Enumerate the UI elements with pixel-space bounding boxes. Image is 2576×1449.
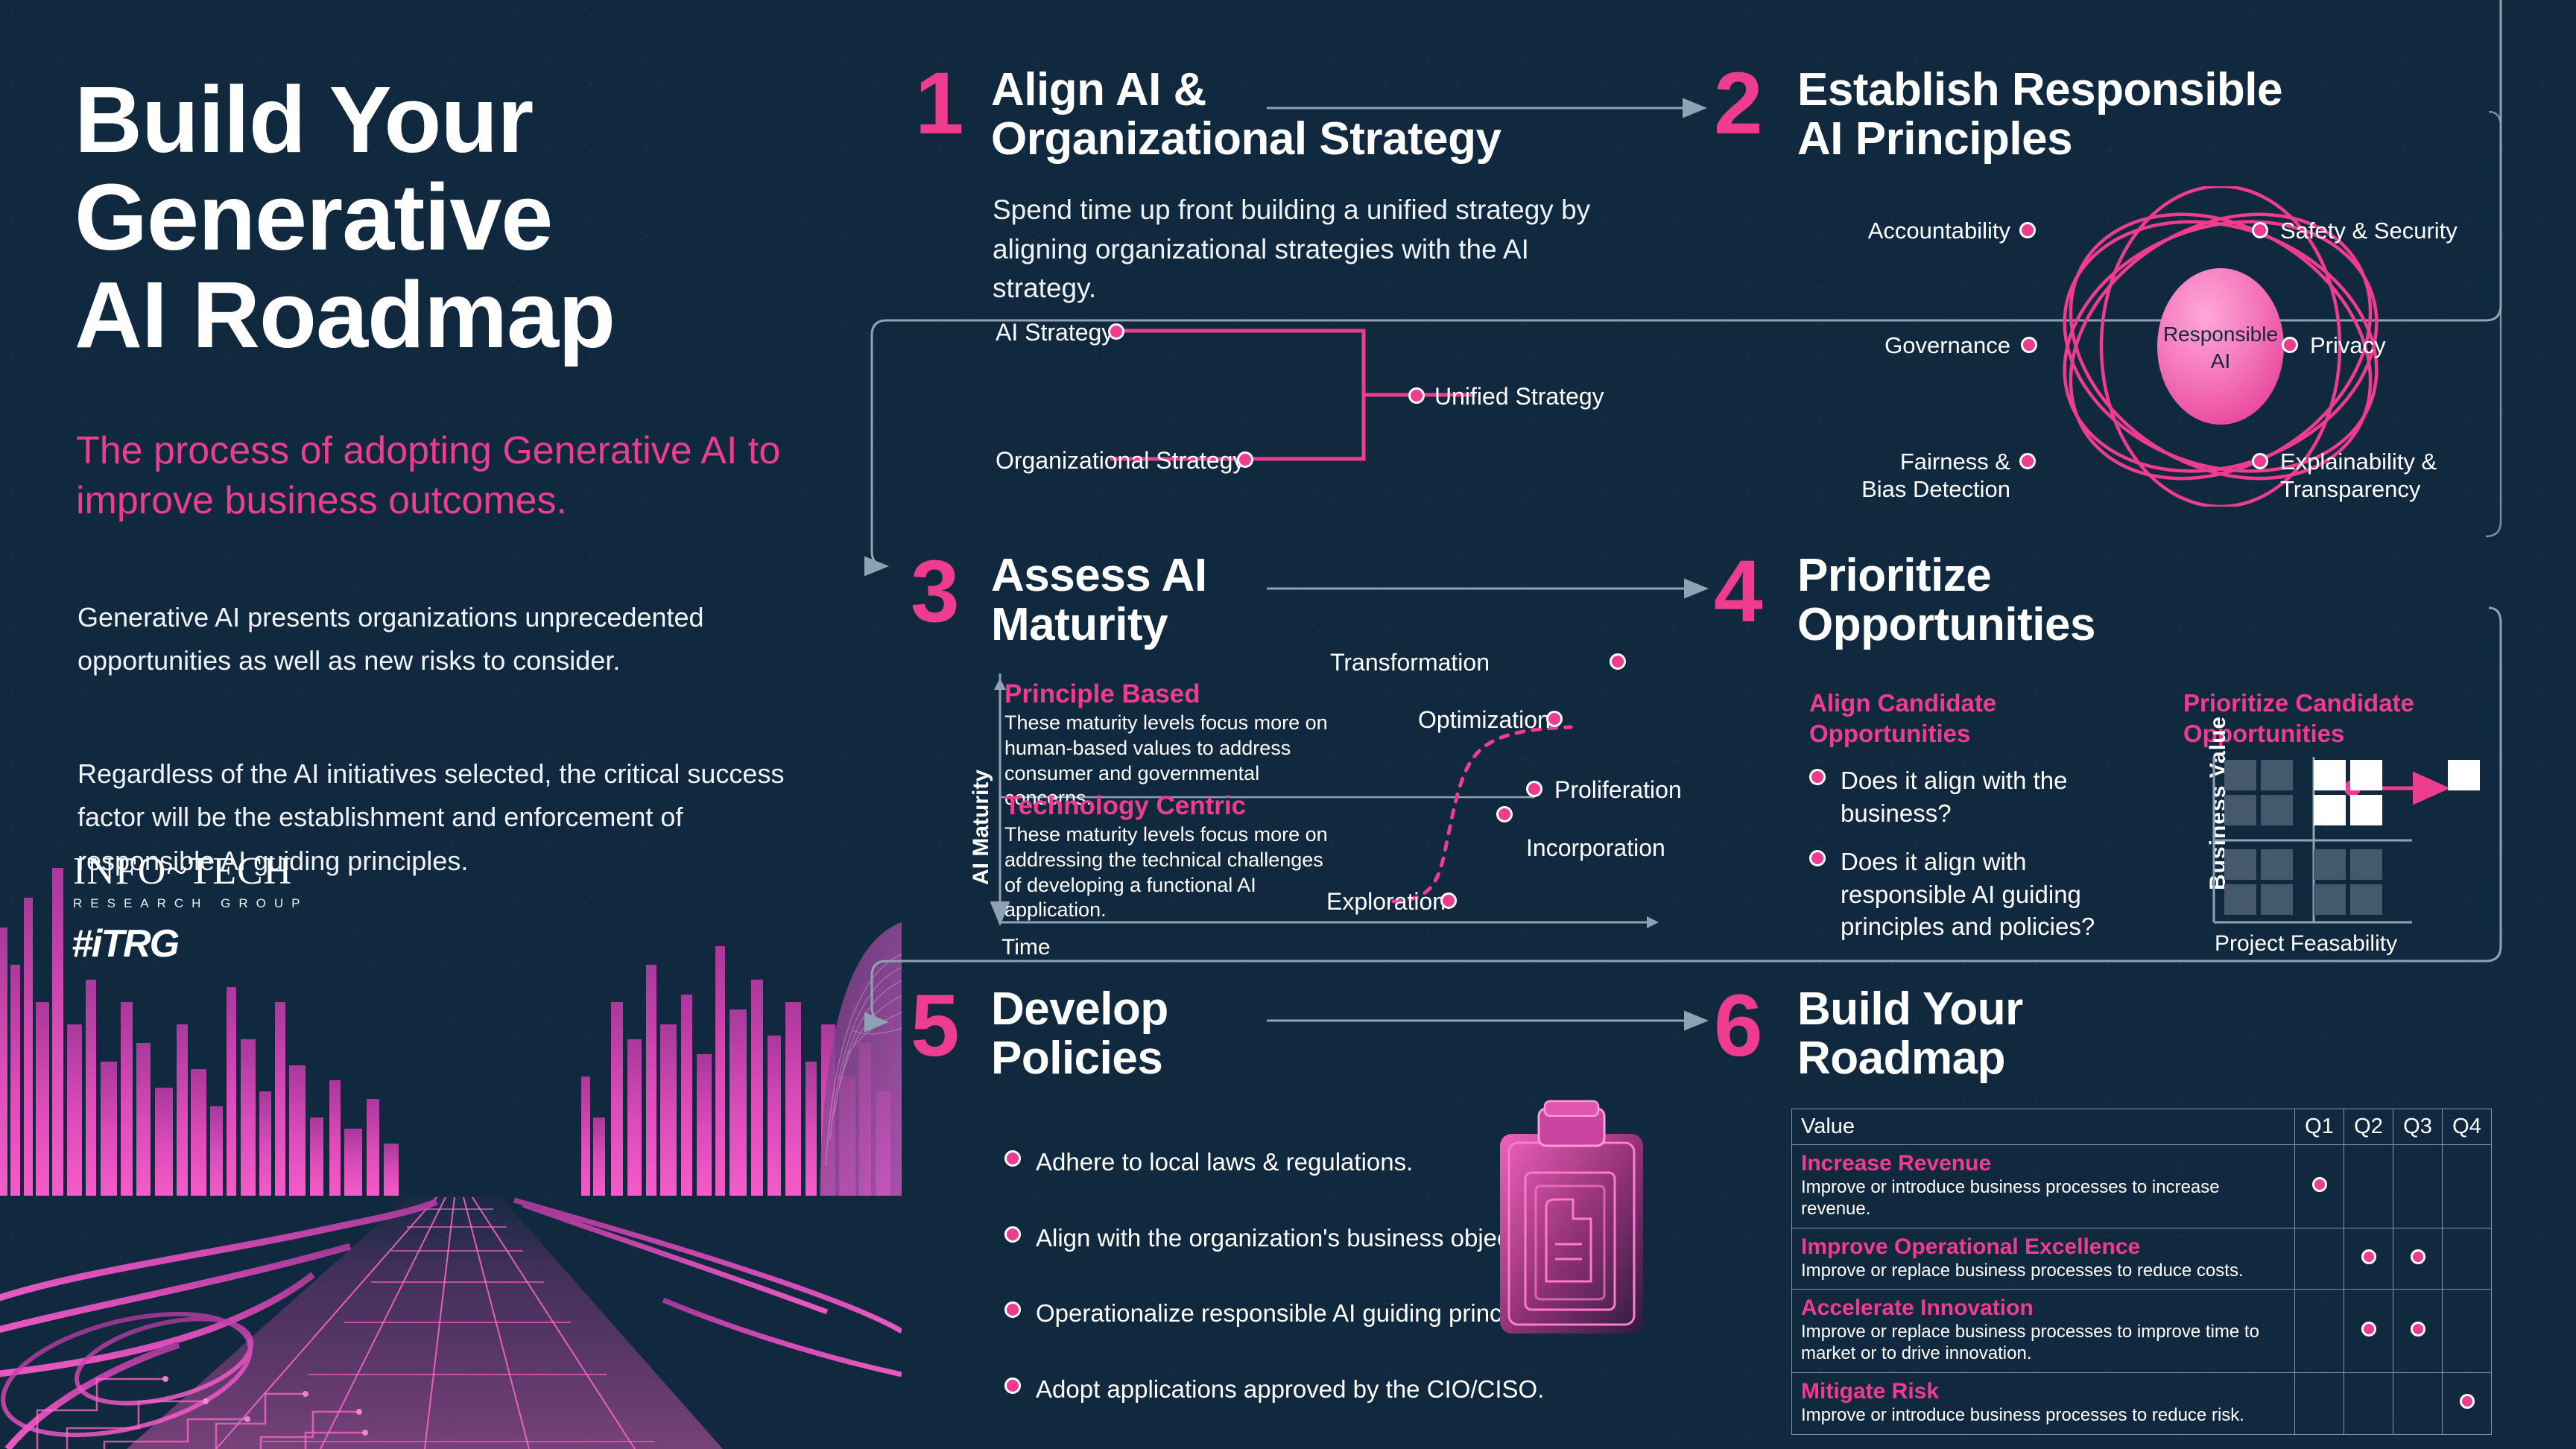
column-header-q3: Q3 [2393, 1109, 2443, 1145]
row-q3-cell [2393, 1290, 2443, 1373]
step-1-title-line-2: Organizational Strategy [991, 115, 1662, 164]
step-5-bullets: Adhere to local laws & regulations. Alig… [1004, 1146, 1571, 1405]
atom-label-accountability: Accountability [1855, 218, 2010, 245]
node-label-ai-strategy: AI Strategy [996, 319, 1113, 346]
row-q4-cell [2443, 1145, 2492, 1228]
list-item: Operationalize responsible AI guiding pr… [1004, 1297, 1571, 1330]
matrix-quadrant-low-value-high-feasability [2314, 849, 2382, 915]
atom-label-fairness-bias-detection: Fairness & Bias Detection [1818, 448, 2010, 503]
atom-dot-fairness-bias-detection [2019, 453, 2036, 469]
svg-text:Responsible: Responsible [2163, 323, 2278, 346]
step-2-number: 2 [1714, 60, 1760, 148]
atom-label-privacy: Privacy [2310, 332, 2386, 360]
table-row: Increase Revenue Improve or introduce bu… [1792, 1145, 2492, 1228]
node-dot-ai-strategy [1108, 323, 1124, 340]
quarter-marker-icon [2411, 1249, 2425, 1264]
matrix-cell [2314, 795, 2346, 825]
table-row: Mitigate Risk Improve or introduce busin… [1792, 1372, 2492, 1434]
list-item: Does it align with the business? [1809, 764, 2122, 829]
list-item: Adopt applications approved by the CIO/C… [1004, 1373, 1571, 1406]
step-5-number: 5 [911, 982, 957, 1070]
curve-dot-exploration [1440, 892, 1457, 909]
step-4-title: Prioritize Opportunities [1797, 551, 2319, 649]
matrix-cell [2224, 884, 2256, 915]
node-dot-unified-strategy [1408, 387, 1425, 404]
bullet-dot-icon [1809, 850, 1826, 866]
curve-label-optimization: Optimization [1418, 706, 1551, 734]
row-title: Mitigate Risk [1801, 1379, 2285, 1404]
list-item-label: Align with the organization's business o… [1036, 1224, 1567, 1252]
svg-text:AI: AI [2211, 349, 2230, 372]
matrix-cell [2350, 849, 2382, 880]
matrix-cell [2224, 795, 2256, 825]
step-3-number: 3 [911, 548, 957, 635]
chart-y-axis-label: AI Maturity [969, 770, 994, 885]
row-q4-cell [2443, 1290, 2492, 1373]
row-q1-cell [2295, 1145, 2344, 1228]
infographic-page: Build Your Generative AI Roadmap The pro… [0, 0, 2576, 1449]
list-item: Does it align with responsible AI guidin… [1809, 846, 2122, 943]
matrix-x-axis-label: Project Feasability [2215, 931, 2397, 957]
info-tech-logo: INFO~TECH RESEARCH GROUP [73, 849, 308, 911]
row-q4-cell [2443, 1228, 2492, 1290]
table-row: Accelerate Innovation Improve or replace… [1792, 1290, 2492, 1373]
step-1-subtitle: Spend time up front building a unified s… [993, 191, 1633, 308]
row-description: Improve or replace business processes to… [1801, 1261, 2285, 1282]
step-5-title-line-2: Policies [991, 1034, 1453, 1083]
row-q3-cell [2393, 1145, 2443, 1228]
node-dot-organizational-strategy [1237, 451, 1253, 468]
quarter-marker-icon [2312, 1177, 2327, 1192]
list-item-label: Adopt applications approved by the CIO/C… [1036, 1375, 1544, 1403]
step-6-number: 6 [1714, 982, 1760, 1070]
step-6-title-line-1: Build Your [1797, 985, 2319, 1034]
row-q2-cell [2344, 1372, 2393, 1434]
maturity-tier-heading: Principle Based [1004, 679, 1332, 709]
row-q2-cell [2344, 1228, 2393, 1290]
curve-label-transformation: Transformation [1330, 649, 1490, 676]
curve-dot-incorporation [1496, 806, 1513, 822]
row-q1-cell [2295, 1290, 2344, 1373]
matrix-cell [2261, 760, 2293, 790]
page-subtitle: The process of adopting Generative AI to… [76, 426, 791, 525]
curve-label-proliferation: Proliferation [1554, 776, 1682, 804]
matrix-cell [2224, 849, 2256, 880]
step-4-align-heading: Align Candidate Opportunities [1809, 688, 2092, 749]
list-item: Adhere to local laws & regulations. [1004, 1146, 1571, 1179]
page-title-line-3: AI Roadmap [75, 266, 805, 364]
step-2-title-line-1: Establish Responsible [1797, 66, 2542, 115]
matrix-cell [2224, 760, 2256, 790]
step-5-title-line-1: Develop [991, 985, 1453, 1034]
step-4-title-line-2: Opportunities [1797, 600, 2319, 650]
quarter-marker-icon [2361, 1249, 2376, 1264]
table-row: Improve Operational Excellence Improve o… [1792, 1228, 2492, 1290]
matrix-cell [2314, 884, 2346, 915]
intro-paragraph-1: Generative AI presents organizations unp… [77, 596, 793, 683]
matrix-selected-opportunity [2448, 760, 2480, 790]
bullet-dot-icon [1809, 769, 1826, 785]
bullet-dot-icon [1004, 1226, 1021, 1243]
curve-dot-optimization [1546, 711, 1563, 727]
atom-dot-accountability [2019, 222, 2036, 238]
matrix-cell [2314, 849, 2346, 880]
curve-dot-proliferation [1526, 781, 1542, 797]
table-header-row: Value Q1 Q2 Q3 Q4 [1792, 1109, 2492, 1145]
row-value-cell: Increase Revenue Improve or introduce bu… [1792, 1145, 2295, 1228]
atom-dot-governance [2021, 337, 2037, 353]
step-3-title-line-1: Assess AI [991, 551, 1453, 600]
step-4-title-line-1: Prioritize [1797, 551, 2319, 600]
step-3-title-line-2: Maturity [991, 600, 1453, 650]
hero-panel: Build Your Generative AI Roadmap The pro… [0, 0, 857, 1449]
page-title-line-2: Generative [75, 168, 805, 266]
maturity-tier-technology-centric: Technology Centric These maturity levels… [1004, 791, 1332, 923]
row-description: Improve or introduce business processes … [1801, 1177, 2285, 1220]
node-label-unified-strategy: Unified Strategy [1434, 383, 1604, 410]
atom-label-safety-security: Safety & Security [2280, 218, 2458, 245]
atom-dot-explainability-transparency [2252, 453, 2268, 469]
node-label-organizational-strategy: Organizational Strategy [996, 447, 1244, 475]
curve-dot-transformation [1610, 653, 1626, 670]
matrix-quadrant-high-value-high-feasability [2314, 760, 2382, 825]
curve-label-incorporation: Incorporation [1526, 834, 1665, 862]
step-4-align-bullets: Does it align with the business? Does it… [1809, 764, 2122, 943]
row-title: Increase Revenue [1801, 1151, 2285, 1176]
matrix-cell [2261, 849, 2293, 880]
row-q3-cell [2393, 1228, 2443, 1290]
step-1-number: 1 [915, 60, 961, 148]
matrix-quadrant-high-value-low-feasability [2224, 760, 2293, 825]
bullet-dot-icon [1004, 1150, 1021, 1167]
row-q4-cell [2443, 1372, 2492, 1434]
matrix-cell [2314, 760, 2346, 790]
atom-label-explainability-transparency: Explainability & Transparency [2280, 448, 2437, 503]
step-1-title-line-1: Align AI & [991, 66, 1662, 115]
atom-dot-privacy [2282, 337, 2298, 353]
row-q2-cell [2344, 1290, 2393, 1373]
roadmap-table: Value Q1 Q2 Q3 Q4 Increase Revenue Impro… [1791, 1109, 2492, 1435]
curve-label-exploration: Exploration [1326, 888, 1446, 916]
step-1-title: Align AI & Organizational Strategy [991, 66, 1662, 163]
page-title-line-1: Build Your [75, 71, 805, 168]
step-6-title: Build Your Roadmap [1797, 985, 2319, 1082]
row-value-cell: Mitigate Risk Improve or introduce busin… [1792, 1372, 2295, 1434]
info-tech-logo-wordmark: INFO~TECH [73, 849, 308, 893]
column-header-q4: Q4 [2443, 1109, 2492, 1145]
quarter-marker-icon [2411, 1322, 2425, 1337]
maturity-tier-body: These maturity levels focus more on addr… [1004, 822, 1332, 923]
atom-dot-safety-security [2252, 222, 2268, 238]
list-item-label: Adhere to local laws & regulations. [1036, 1148, 1413, 1176]
page-title: Build Your Generative AI Roadmap [75, 71, 805, 364]
chart-x-axis-label: Time [1001, 935, 1051, 960]
matrix-quadrant-low-value-low-feasability [2224, 849, 2293, 915]
matrix-cell [2261, 795, 2293, 825]
row-title: Improve Operational Excellence [1801, 1234, 2285, 1259]
column-header-value: Value [1792, 1109, 2295, 1145]
step-2-title: Establish Responsible AI Principles [1797, 66, 2542, 163]
row-q2-cell [2344, 1145, 2393, 1228]
info-tech-logo-tagline: RESEARCH GROUP [73, 896, 308, 911]
row-value-cell: Improve Operational Excellence Improve o… [1792, 1228, 2295, 1290]
row-description: Improve or replace business processes to… [1801, 1322, 2285, 1365]
bullet-dot-icon [1004, 1301, 1021, 1318]
list-item-label: Does it align with responsible AI guidin… [1841, 848, 2095, 940]
bullet-dot-icon [1004, 1377, 1021, 1394]
step-4-number: 4 [1714, 548, 1760, 635]
quarter-marker-icon [2361, 1322, 2376, 1337]
row-q3-cell [2393, 1372, 2443, 1434]
matrix-cell [2350, 760, 2382, 790]
row-q1-cell [2295, 1228, 2344, 1290]
row-value-cell: Accelerate Innovation Improve or replace… [1792, 1290, 2295, 1373]
matrix-cell [2350, 795, 2382, 825]
column-header-q2: Q2 [2344, 1109, 2393, 1145]
column-header-q1: Q1 [2295, 1109, 2344, 1145]
row-title: Accelerate Innovation [1801, 1296, 2285, 1320]
itrg-hashtag-logo: #iTRG [72, 922, 178, 966]
quarter-marker-icon [2460, 1394, 2475, 1409]
matrix-cell [2261, 884, 2293, 915]
row-q1-cell [2295, 1372, 2344, 1434]
step-3-title: Assess AI Maturity [991, 551, 1453, 649]
list-item: Align with the organization's business o… [1004, 1222, 1571, 1255]
maturity-tier-heading: Technology Centric [1004, 791, 1332, 821]
matrix-cell [2350, 884, 2382, 915]
row-description: Improve or introduce business processes … [1801, 1405, 2285, 1427]
list-item-label: Operationalize responsible AI guiding pr… [1036, 1299, 1560, 1327]
step-5-title: Develop Policies [991, 985, 1453, 1082]
step-2-title-line-2: AI Principles [1797, 115, 2542, 164]
step-6-title-line-2: Roadmap [1797, 1034, 2319, 1083]
list-item-label: Does it align with the business? [1841, 767, 2068, 827]
atom-label-governance: Governance [1841, 332, 2010, 360]
